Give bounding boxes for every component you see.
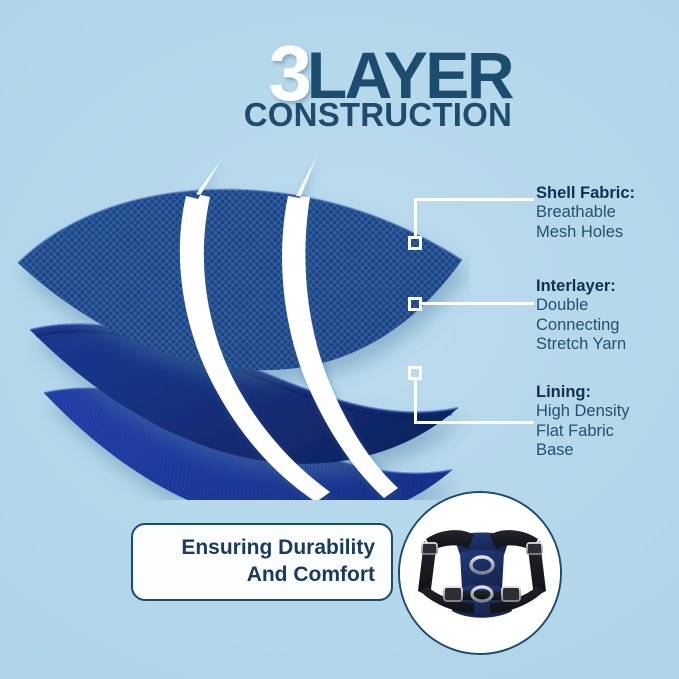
callout-shell-fabric: Shell Fabric: Breathable Mesh Holes <box>536 184 635 242</box>
connector-node-interlayer <box>408 297 422 311</box>
connector-hline-shell <box>414 198 534 201</box>
callout-interlayer-line1: Double <box>536 296 626 315</box>
fabric-layers-illustration <box>0 140 470 500</box>
callout-lining-line1: High Density <box>536 402 630 421</box>
harness-buckle-left <box>444 587 462 601</box>
page-title: 3LAYER CONSTRUCTION <box>0 34 679 138</box>
infographic-canvas: 3LAYER CONSTRUCTION <box>0 0 679 679</box>
callout-shell-line1: Breathable <box>536 203 635 222</box>
harness-strap-center <box>456 591 508 600</box>
connector-node-lining <box>408 366 422 380</box>
harness-slider-left <box>422 543 437 554</box>
callout-interlayer-heading: Interlayer: <box>536 277 626 296</box>
harness-slider-right <box>527 543 542 554</box>
callout-interlayer: Interlayer: Double Connecting Stretch Ya… <box>536 277 626 355</box>
connector-hline-lining <box>414 421 534 424</box>
title-word-construction: CONSTRUCTION <box>0 96 512 134</box>
connector-hline-interlayer <box>421 302 534 305</box>
dog-harness-icon <box>400 493 562 655</box>
callout-interlayer-line2: Connecting <box>536 316 626 335</box>
promo-callout-box: Ensuring Durability And Comfort <box>131 523 393 601</box>
harness-buckle-right <box>502 587 520 601</box>
callout-interlayer-line3: Stretch Yarn <box>536 335 626 354</box>
connector-node-shell <box>408 236 422 250</box>
callout-shell-line2: Mesh Holes <box>536 223 635 242</box>
promo-text: Ensuring Durability And Comfort <box>181 535 375 589</box>
product-image-badge <box>398 491 562 655</box>
callout-lining-heading: Lining: <box>536 383 630 402</box>
callout-lining-line3: Base <box>536 441 630 460</box>
callout-shell-heading: Shell Fabric: <box>536 184 635 203</box>
connector-vline-lining <box>414 380 417 424</box>
callout-lining: Lining: High Density Flat Fabric Base <box>536 383 630 461</box>
callout-lining-line2: Flat Fabric <box>536 422 630 441</box>
connector-vline-shell <box>414 198 417 238</box>
